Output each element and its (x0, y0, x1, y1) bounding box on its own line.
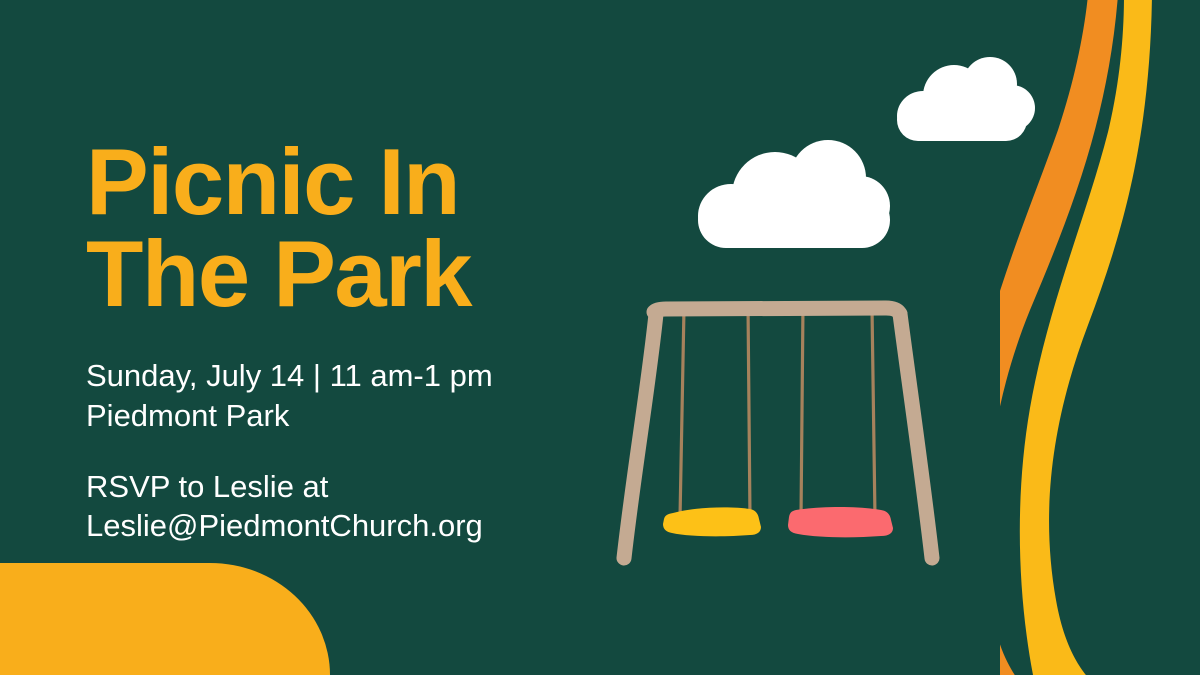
swing-ropes (680, 305, 875, 518)
event-details: Sunday, July 14 | 11 am-1 pm Piedmont Pa… (86, 356, 606, 435)
text-content-block: Picnic In The Park Sunday, July 14 | 11 … (86, 136, 606, 577)
cloud-small-decoration (897, 57, 1027, 141)
cloud-big-decoration (698, 140, 890, 248)
rsvp-info: RSVP to Leslie at Leslie@PiedmontChurch.… (86, 467, 606, 546)
swing-seat-left (663, 507, 761, 536)
page-title: Picnic In The Park (86, 136, 606, 320)
swing-set-illustration (600, 280, 960, 580)
ribbon-inner-amber (1020, 0, 1152, 675)
corner-block-decoration (0, 563, 330, 675)
flyer-canvas: Picnic In The Park Sunday, July 14 | 11 … (0, 0, 1200, 675)
swing-seat-right (788, 507, 893, 537)
